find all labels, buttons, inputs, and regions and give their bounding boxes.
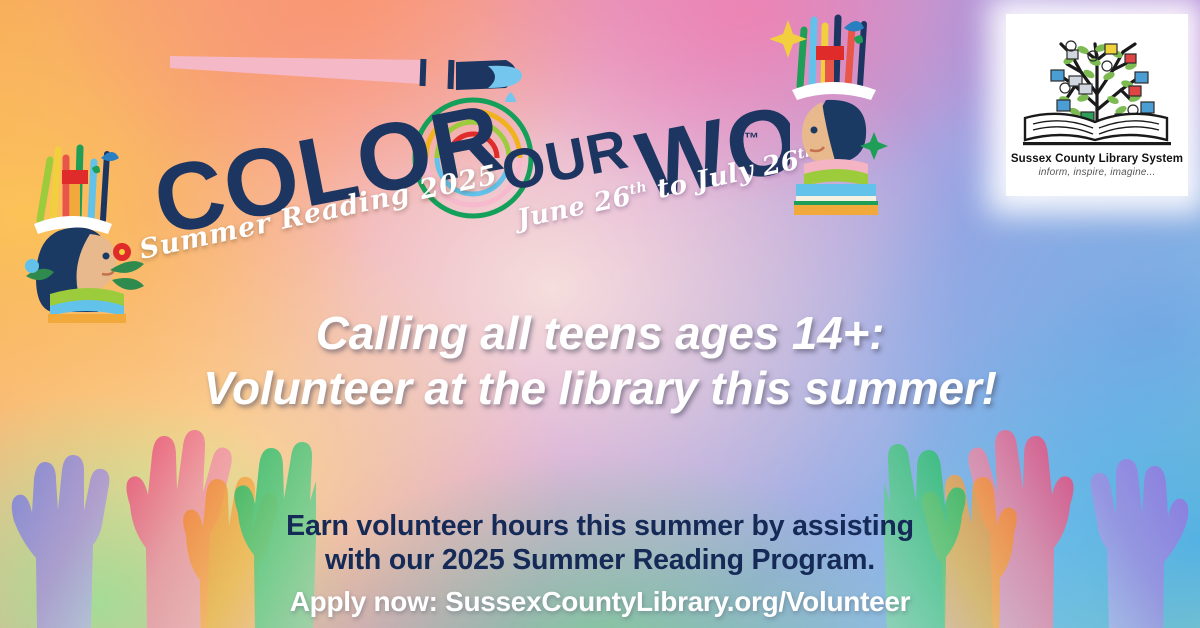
body-line-1: Earn volunteer hours this summer by assi… <box>0 509 1200 543</box>
headline-line-1: Calling all teens ages 14+: <box>0 306 1200 361</box>
person-open-head-right-icon <box>770 4 900 219</box>
page-title: Calling all teens ages 14+: Volunteer at… <box>0 306 1200 416</box>
body-line-2: with our 2025 Summer Reading Program. <box>0 543 1200 577</box>
library-tree-logo-icon <box>1009 14 1185 152</box>
library-logo: Sussex County Library System inform, ins… <box>1006 14 1188 196</box>
summer-reading-volunteer-poster: COLOR OUR WORLD ™ Summer Reading 2025 Ju… <box>0 0 1200 628</box>
person-open-head-left-icon <box>6 128 156 323</box>
body-copy: Earn volunteer hours this summer by assi… <box>0 509 1200 577</box>
logo-title: Sussex County Library System <box>1011 153 1183 165</box>
trademark-symbol: ™ <box>744 130 760 147</box>
headline-line-2: Volunteer at the library this summer! <box>0 361 1200 416</box>
logo-tagline: inform, inspire, imagine... <box>1038 167 1155 178</box>
apply-link[interactable]: Apply now: SussexCountyLibrary.org/Volun… <box>0 586 1200 618</box>
